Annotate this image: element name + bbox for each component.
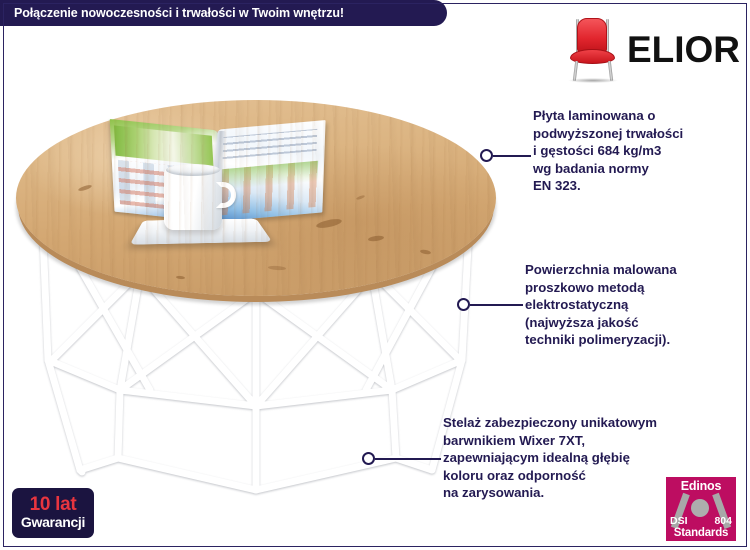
edinos-code-right: 804 xyxy=(714,515,732,527)
wood-knot xyxy=(420,249,432,255)
callout-marker-frame-dye xyxy=(362,452,375,465)
wood-knot xyxy=(78,184,93,192)
chair-backrest xyxy=(577,18,607,52)
warranty-label: Gwarancji xyxy=(21,514,85,530)
wood-knot xyxy=(368,235,385,242)
callout-leader-line xyxy=(470,304,523,306)
callout-marker-powder-coating xyxy=(457,298,470,311)
warranty-years: 10 lat xyxy=(30,495,77,514)
header-banner: Połączenie nowoczesności i trwałości w T… xyxy=(0,0,447,26)
infographic-root: Połączenie nowoczesności i trwałości w T… xyxy=(0,0,750,550)
edinos-circle-icon xyxy=(691,499,709,517)
open-magazine xyxy=(112,125,326,220)
magazine-left-page xyxy=(110,119,223,223)
brand-logo: ELIOR xyxy=(565,14,740,84)
edinos-standards: Standards xyxy=(666,527,736,539)
callout-leader-line xyxy=(493,155,531,157)
edinos-badge: Edinos DSI 804 Standards xyxy=(666,477,736,541)
wood-knot xyxy=(316,217,343,229)
wood-knot xyxy=(356,195,365,201)
callout-laminate-board: Płyta laminowana o podwyższonej trwałośc… xyxy=(533,107,743,195)
chair-shadow xyxy=(568,78,618,83)
callout-marker-laminate-board xyxy=(480,149,493,162)
chair-icon xyxy=(565,16,619,82)
callout-powder-coating: Powierzchnia malowana proszkowo metodą e… xyxy=(525,261,745,349)
edinos-title: Edinos xyxy=(666,479,736,493)
table-top xyxy=(16,100,496,296)
coffee-cup xyxy=(164,168,222,230)
wood-knot xyxy=(268,265,286,270)
callout-text: Powierzchnia malowana proszkowo metodą e… xyxy=(525,261,745,349)
wood-knot xyxy=(176,276,185,280)
warranty-badge: 10 lat Gwarancji xyxy=(12,488,94,538)
product-photo xyxy=(0,60,520,530)
edinos-code-left: DSI xyxy=(670,515,688,527)
callout-leader-line xyxy=(375,458,441,460)
saucer xyxy=(130,219,273,245)
brand-name: ELIOR xyxy=(627,31,740,68)
callout-text: Płyta laminowana o podwyższonej trwałośc… xyxy=(533,107,743,195)
banner-headline: Połączenie nowoczesności i trwałości w T… xyxy=(14,6,344,20)
magazine-right-page xyxy=(214,120,325,222)
cup-handle xyxy=(216,182,236,208)
magazine-spine xyxy=(209,131,227,215)
